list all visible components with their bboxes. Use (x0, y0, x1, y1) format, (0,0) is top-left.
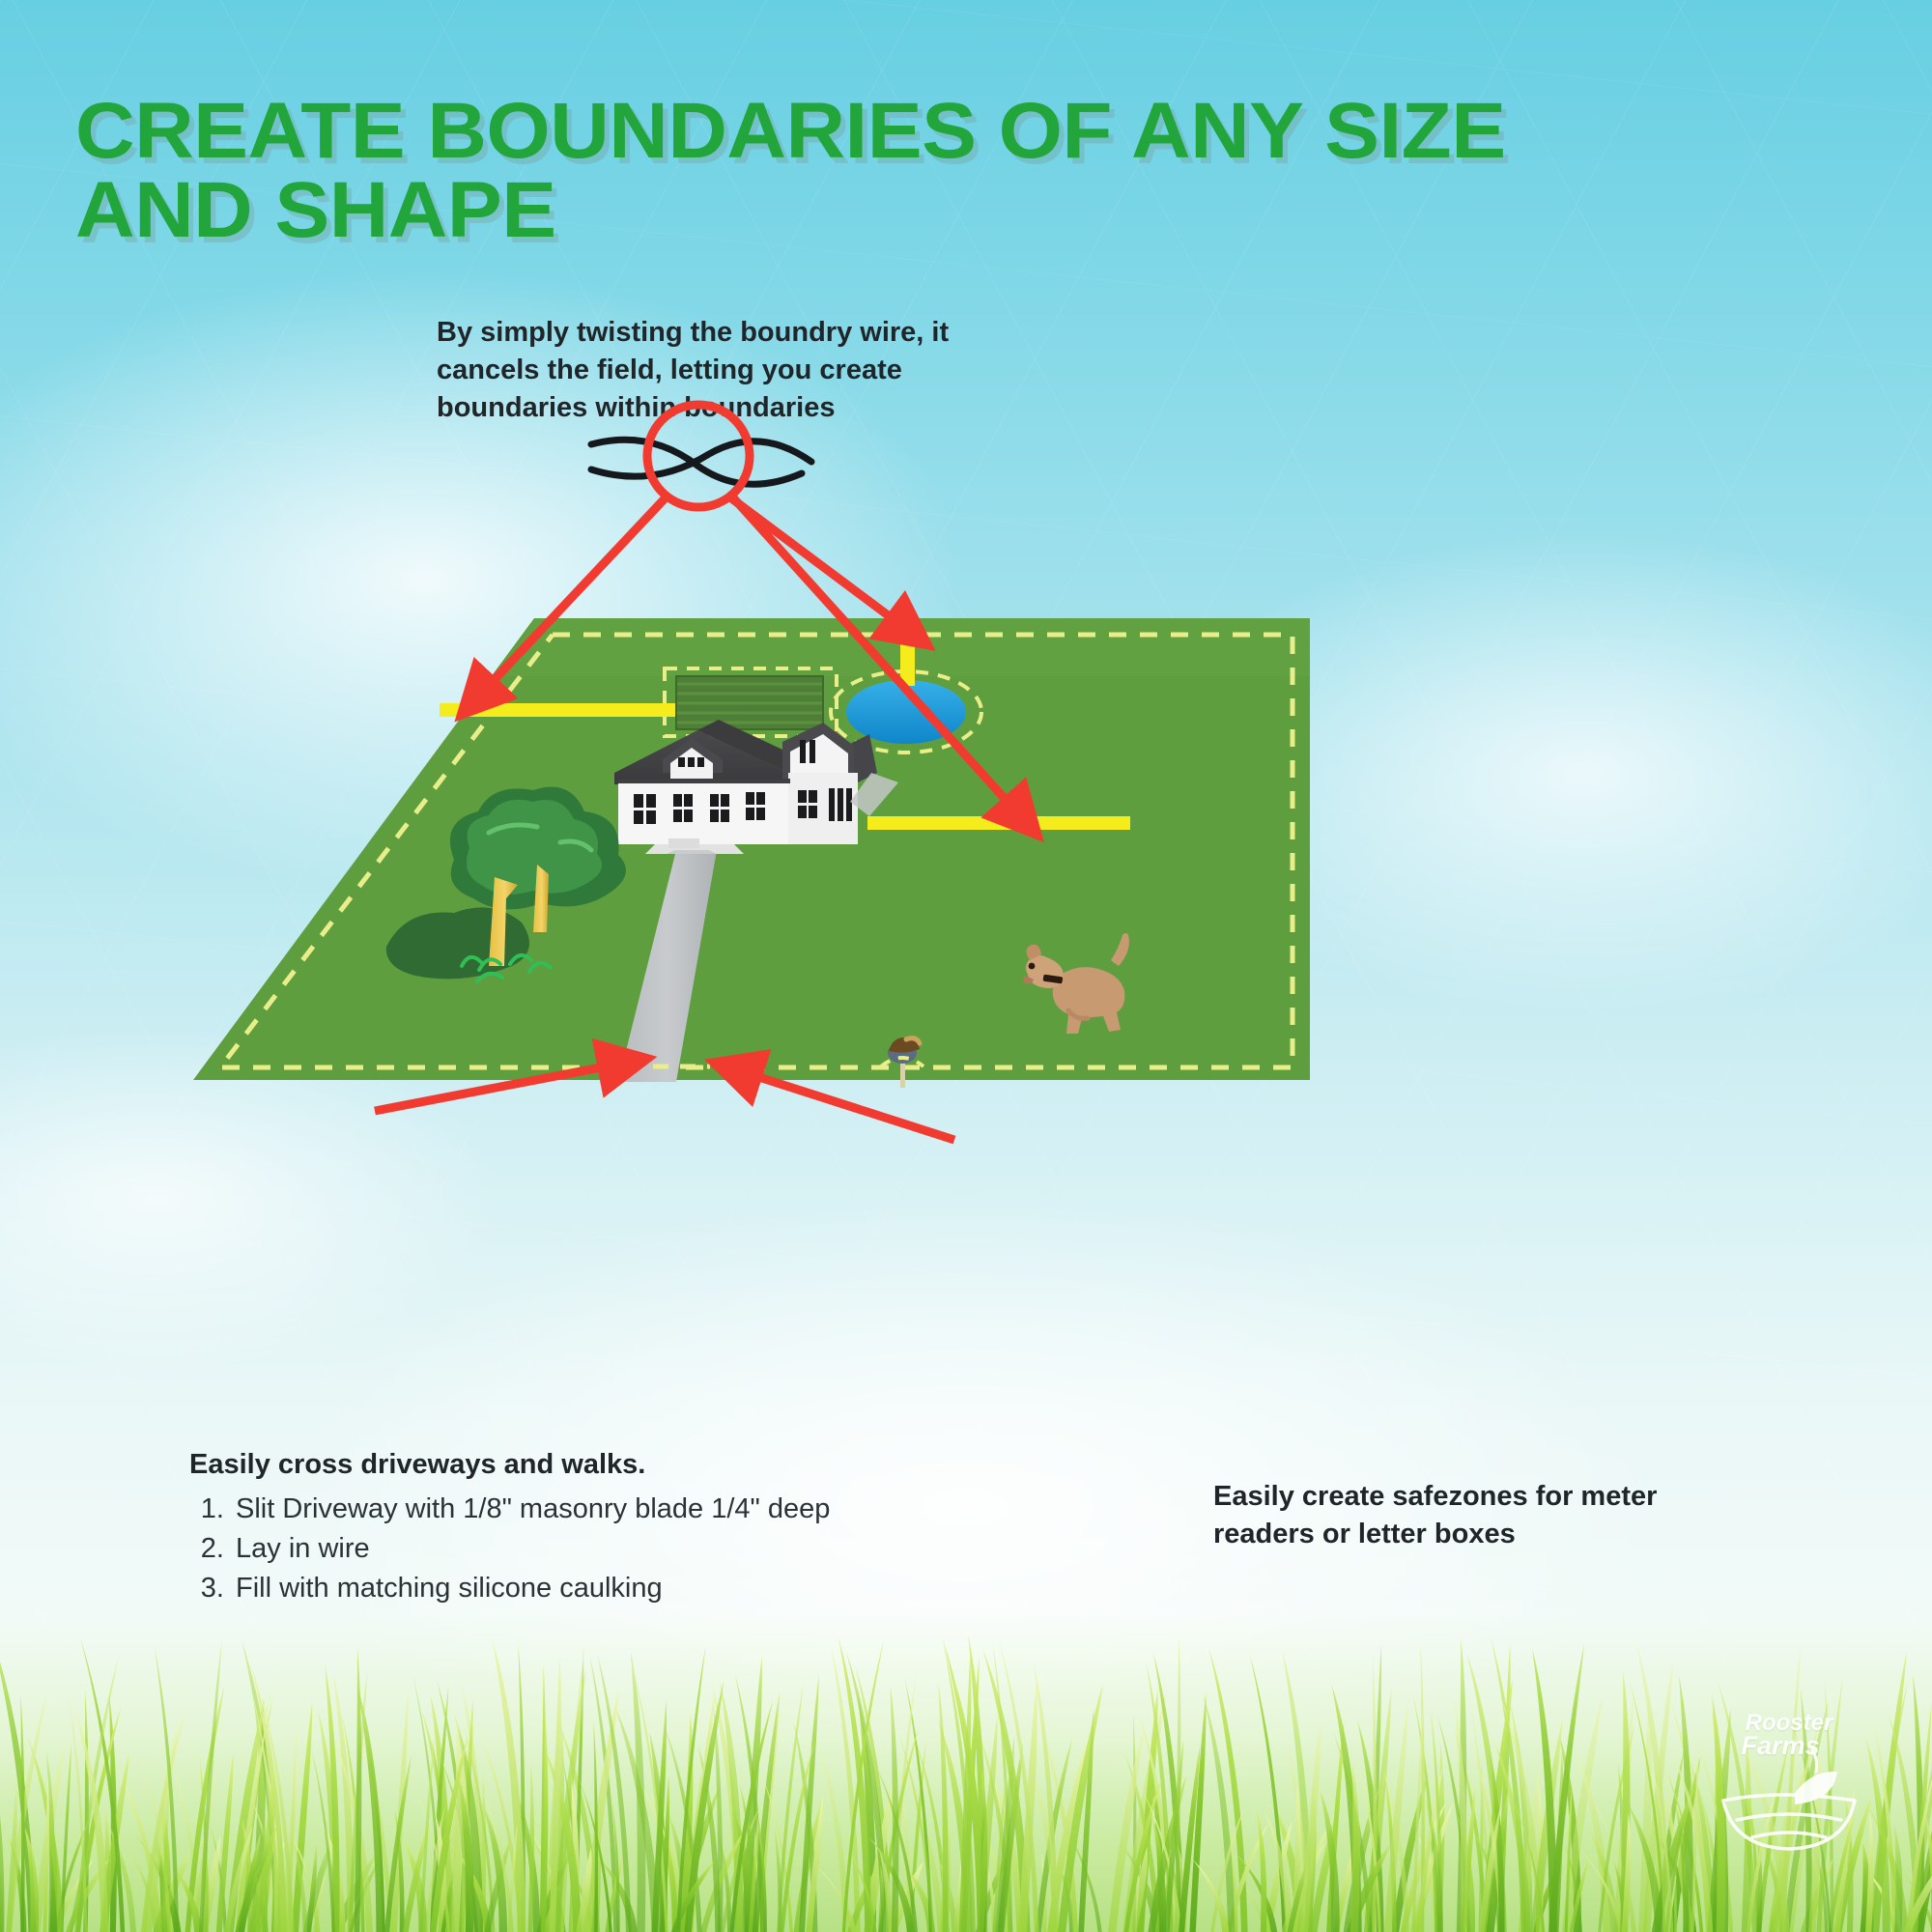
grass-blades (0, 1613, 1932, 1932)
list-item: Lay in wire (232, 1529, 885, 1569)
callout-safezone: Easily create safezones for meter reader… (1213, 1478, 1716, 1552)
list-item: Fill with matching silicone caulking (232, 1569, 885, 1608)
brand-logo-emblem (1702, 1712, 1876, 1866)
callout-driveway-steps: Slit Driveway with 1/8" masonry blade 1/… (232, 1490, 885, 1609)
grass-footer (0, 1613, 1932, 1932)
garden-bed (665, 668, 837, 736)
callout-driveway-heading: Easily cross driveways and walks. (189, 1447, 885, 1484)
list-item: Slit Driveway with 1/8" masonry blade 1/… (232, 1490, 885, 1529)
brand-logo: Rooster Farms (1702, 1712, 1876, 1866)
twisted-wire-segment-pool (900, 628, 915, 686)
twisted-wire-illustration (591, 440, 811, 484)
twisted-wire-segment-right (867, 816, 1130, 830)
highlight-circle (647, 405, 750, 507)
callout-driveway: Easily cross driveways and walks. Slit D… (189, 1447, 885, 1608)
twisted-wire-segment-garden (440, 703, 675, 717)
